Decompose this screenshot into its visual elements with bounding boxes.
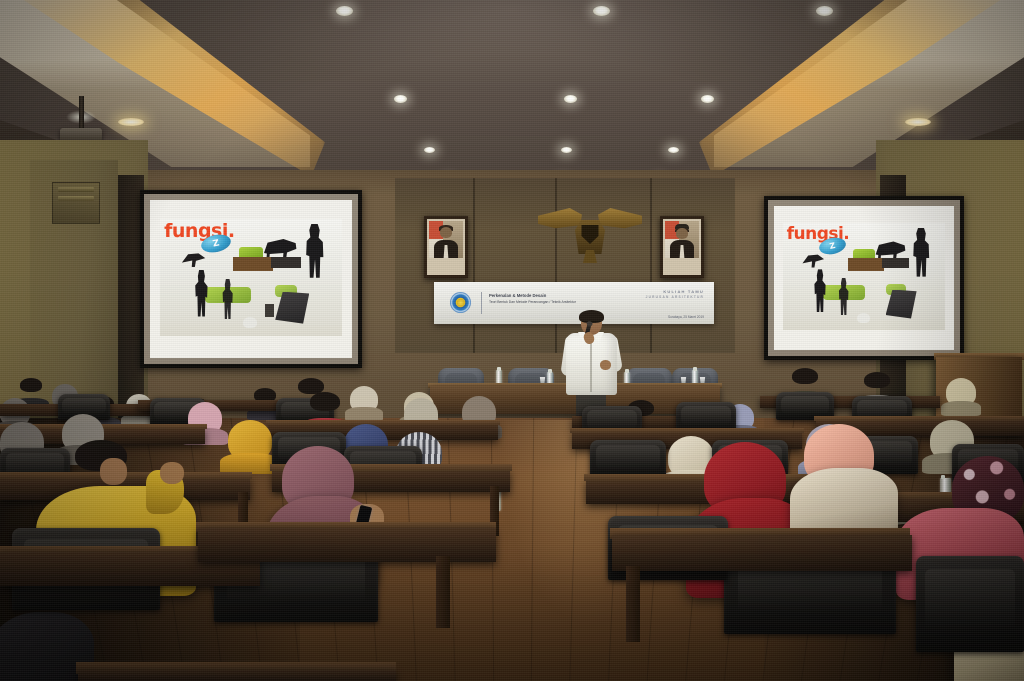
- desk-row-1-center: [198, 528, 496, 562]
- auditorium-photo: fungsi. Z: [0, 0, 1024, 681]
- banner-organization-sub: JURUSAN ARSITEKTUR: [584, 295, 704, 299]
- portrait-frame-right: [660, 216, 704, 278]
- ceiling-downlight-0-0: [336, 6, 353, 16]
- portrait-image-left: [429, 221, 463, 258]
- list-item: [350, 386, 378, 412]
- desk-row-1-right: [612, 535, 912, 571]
- banner-title: Perkenalan & Metode Desain: [489, 293, 546, 298]
- slide-right: fungsi. Z: [774, 206, 954, 350]
- projector-mount-pole: [79, 96, 84, 130]
- presenter: [562, 312, 620, 420]
- person-hand: [160, 462, 184, 484]
- garuda-emblem-icon: [538, 208, 642, 264]
- list-item: [228, 420, 272, 460]
- wall-vent-grille-icon: [52, 182, 100, 224]
- ceiling-downlight-1-2: [701, 95, 714, 103]
- soffit-lamp-0: [118, 118, 144, 126]
- seat: [916, 556, 1024, 652]
- ceiling-downlight-0-1: [593, 6, 610, 16]
- desk-row-0-left: [78, 670, 396, 681]
- ceiling-downlight-2-0: [424, 147, 435, 153]
- ceiling-downlight-1-1: [564, 95, 577, 103]
- banner-subtitle: Teori Bentuk Dan Metode Perancangan / Te…: [489, 300, 576, 304]
- banner-organization: KULIAH TAMU: [584, 289, 704, 294]
- its-logo-icon: [450, 292, 471, 313]
- ceiling-downlight-1-0: [394, 95, 407, 103]
- seat: [590, 440, 666, 478]
- presenter-hand-right: [600, 360, 611, 370]
- projection-screen-right: fungsi. Z: [764, 196, 964, 360]
- ceiling-downlight-2-1: [561, 147, 572, 153]
- soffit-lamp-1: [905, 118, 931, 126]
- projection-screen-left: fungsi. Z: [140, 190, 362, 368]
- slide-left: fungsi. Z: [150, 200, 352, 358]
- portrait-frame-left: [424, 216, 468, 278]
- ceiling-downlight-2-2: [668, 147, 679, 153]
- ceiling-downlight-0-2: [816, 6, 833, 16]
- list-item: [946, 378, 976, 406]
- portrait-image-right: [665, 221, 699, 258]
